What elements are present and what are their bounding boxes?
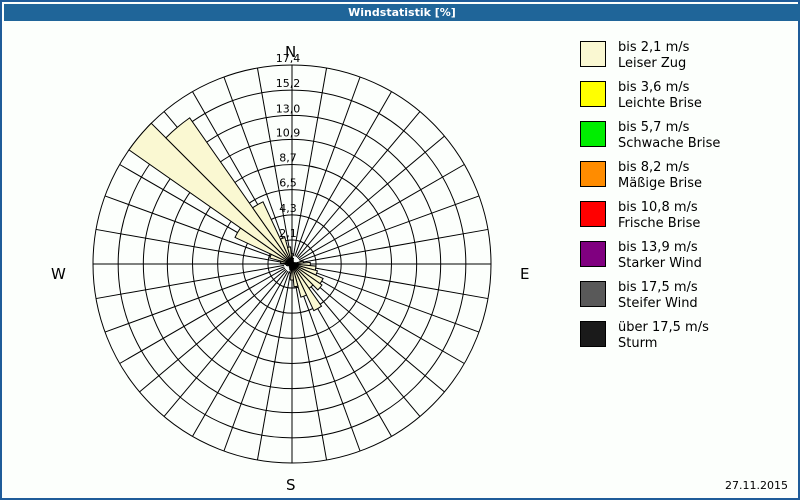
legend-label: bis 8,2 m/sMäßige Brise bbox=[618, 160, 702, 191]
legend-beaufort-name: Sturm bbox=[618, 336, 709, 352]
legend-color-swatch bbox=[580, 241, 606, 267]
grid-spoke bbox=[297, 270, 420, 416]
legend-item: bis 3,6 m/sLeichte Brise bbox=[580, 80, 795, 111]
legend-speed-range: bis 10,8 m/s bbox=[618, 200, 700, 216]
date-stamp: 27.11.2015 bbox=[725, 479, 788, 492]
grid-spoke bbox=[164, 270, 287, 416]
grid-spoke bbox=[293, 68, 326, 256]
grid-spoke bbox=[297, 112, 420, 258]
legend-item: bis 8,2 m/sMäßige Brise bbox=[580, 160, 795, 191]
legend-speed-range: bis 13,9 m/s bbox=[618, 240, 702, 256]
legend-color-swatch bbox=[580, 321, 606, 347]
legend-label: über 17,5 m/sSturm bbox=[618, 320, 709, 351]
radial-tick-label: 2,1 bbox=[279, 227, 297, 240]
legend-label: bis 10,8 m/sFrische Brise bbox=[618, 200, 700, 231]
legend-item: bis 2,1 m/sLeiser Zug bbox=[580, 40, 795, 71]
legend-beaufort-name: Schwache Brise bbox=[618, 136, 720, 152]
legend-label: bis 2,1 m/sLeiser Zug bbox=[618, 40, 689, 71]
legend-beaufort-name: Starker Wind bbox=[618, 256, 702, 272]
legend-speed-range: bis 8,2 m/s bbox=[618, 160, 702, 176]
grid-spoke bbox=[300, 229, 488, 262]
legend-beaufort-name: Steifer Wind bbox=[618, 296, 698, 312]
radial-tick-label: 15,2 bbox=[276, 77, 301, 90]
window-title: Windstatistik [%] bbox=[348, 6, 456, 19]
legend-speed-range: über 17,5 m/s bbox=[618, 320, 709, 336]
legend-color-swatch bbox=[580, 281, 606, 307]
radial-tick-label: 4,3 bbox=[279, 202, 297, 215]
legend-item: bis 10,8 m/sFrische Brise bbox=[580, 200, 795, 231]
radial-tick-label: 6,5 bbox=[279, 177, 297, 190]
wind-rose-plot-area: 2,14,36,58,710,913,015,217,4 N S W E bbox=[2, 21, 568, 500]
compass-label-south: S bbox=[286, 476, 296, 494]
wind-rose-svg: 2,14,36,58,710,913,015,217,4 bbox=[2, 21, 568, 500]
legend: bis 2,1 m/sLeiser Zugbis 3,6 m/sLeichte … bbox=[580, 40, 795, 360]
legend-color-swatch bbox=[580, 81, 606, 107]
legend-item: über 17,5 m/sSturm bbox=[580, 320, 795, 351]
wind-rose-petal bbox=[166, 118, 292, 264]
legend-beaufort-name: Mäßige Brise bbox=[618, 176, 702, 192]
legend-label: bis 5,7 m/sSchwache Brise bbox=[618, 120, 720, 151]
window-title-bar: Windstatistik [%] bbox=[4, 4, 800, 21]
legend-color-swatch bbox=[580, 41, 606, 67]
legend-label: bis 17,5 m/sSteifer Wind bbox=[618, 280, 698, 311]
legend-speed-range: bis 3,6 m/s bbox=[618, 80, 702, 96]
radial-tick-label: 8,7 bbox=[279, 152, 297, 165]
compass-label-east: E bbox=[520, 265, 529, 283]
legend-speed-range: bis 2,1 m/s bbox=[618, 40, 689, 56]
legend-item: bis 5,7 m/sSchwache Brise bbox=[580, 120, 795, 151]
grid-spoke bbox=[298, 136, 444, 259]
radial-tick-labels: 2,14,36,58,710,913,015,217,4 bbox=[276, 52, 301, 240]
legend-color-swatch bbox=[580, 121, 606, 147]
legend-beaufort-name: Leichte Brise bbox=[618, 96, 702, 112]
radial-tick-label: 13,0 bbox=[276, 102, 301, 115]
legend-label: bis 3,6 m/sLeichte Brise bbox=[618, 80, 702, 111]
legend-beaufort-name: Frische Brise bbox=[618, 216, 700, 232]
application-window: Windstatistik [%] 2,14,36,58,710,913,015… bbox=[0, 0, 800, 500]
radial-tick-label: 10,9 bbox=[276, 126, 301, 139]
legend-color-swatch bbox=[580, 161, 606, 187]
grid-spoke bbox=[257, 272, 290, 460]
legend-item: bis 13,9 m/sStarker Wind bbox=[580, 240, 795, 271]
legend-beaufort-name: Leiser Zug bbox=[618, 56, 689, 72]
compass-label-north: N bbox=[285, 43, 296, 61]
legend-speed-range: bis 17,5 m/s bbox=[618, 280, 698, 296]
compass-label-west: W bbox=[51, 265, 66, 283]
legend-item: bis 17,5 m/sSteifer Wind bbox=[580, 280, 795, 311]
grid-spoke bbox=[140, 269, 286, 392]
legend-color-swatch bbox=[580, 201, 606, 227]
legend-label: bis 13,9 m/sStarker Wind bbox=[618, 240, 702, 271]
legend-speed-range: bis 5,7 m/s bbox=[618, 120, 720, 136]
grid-spoke bbox=[300, 265, 488, 298]
wind-rose-chart: 2,14,36,58,710,913,015,217,4 bbox=[2, 21, 568, 500]
grid-spoke bbox=[96, 265, 284, 298]
